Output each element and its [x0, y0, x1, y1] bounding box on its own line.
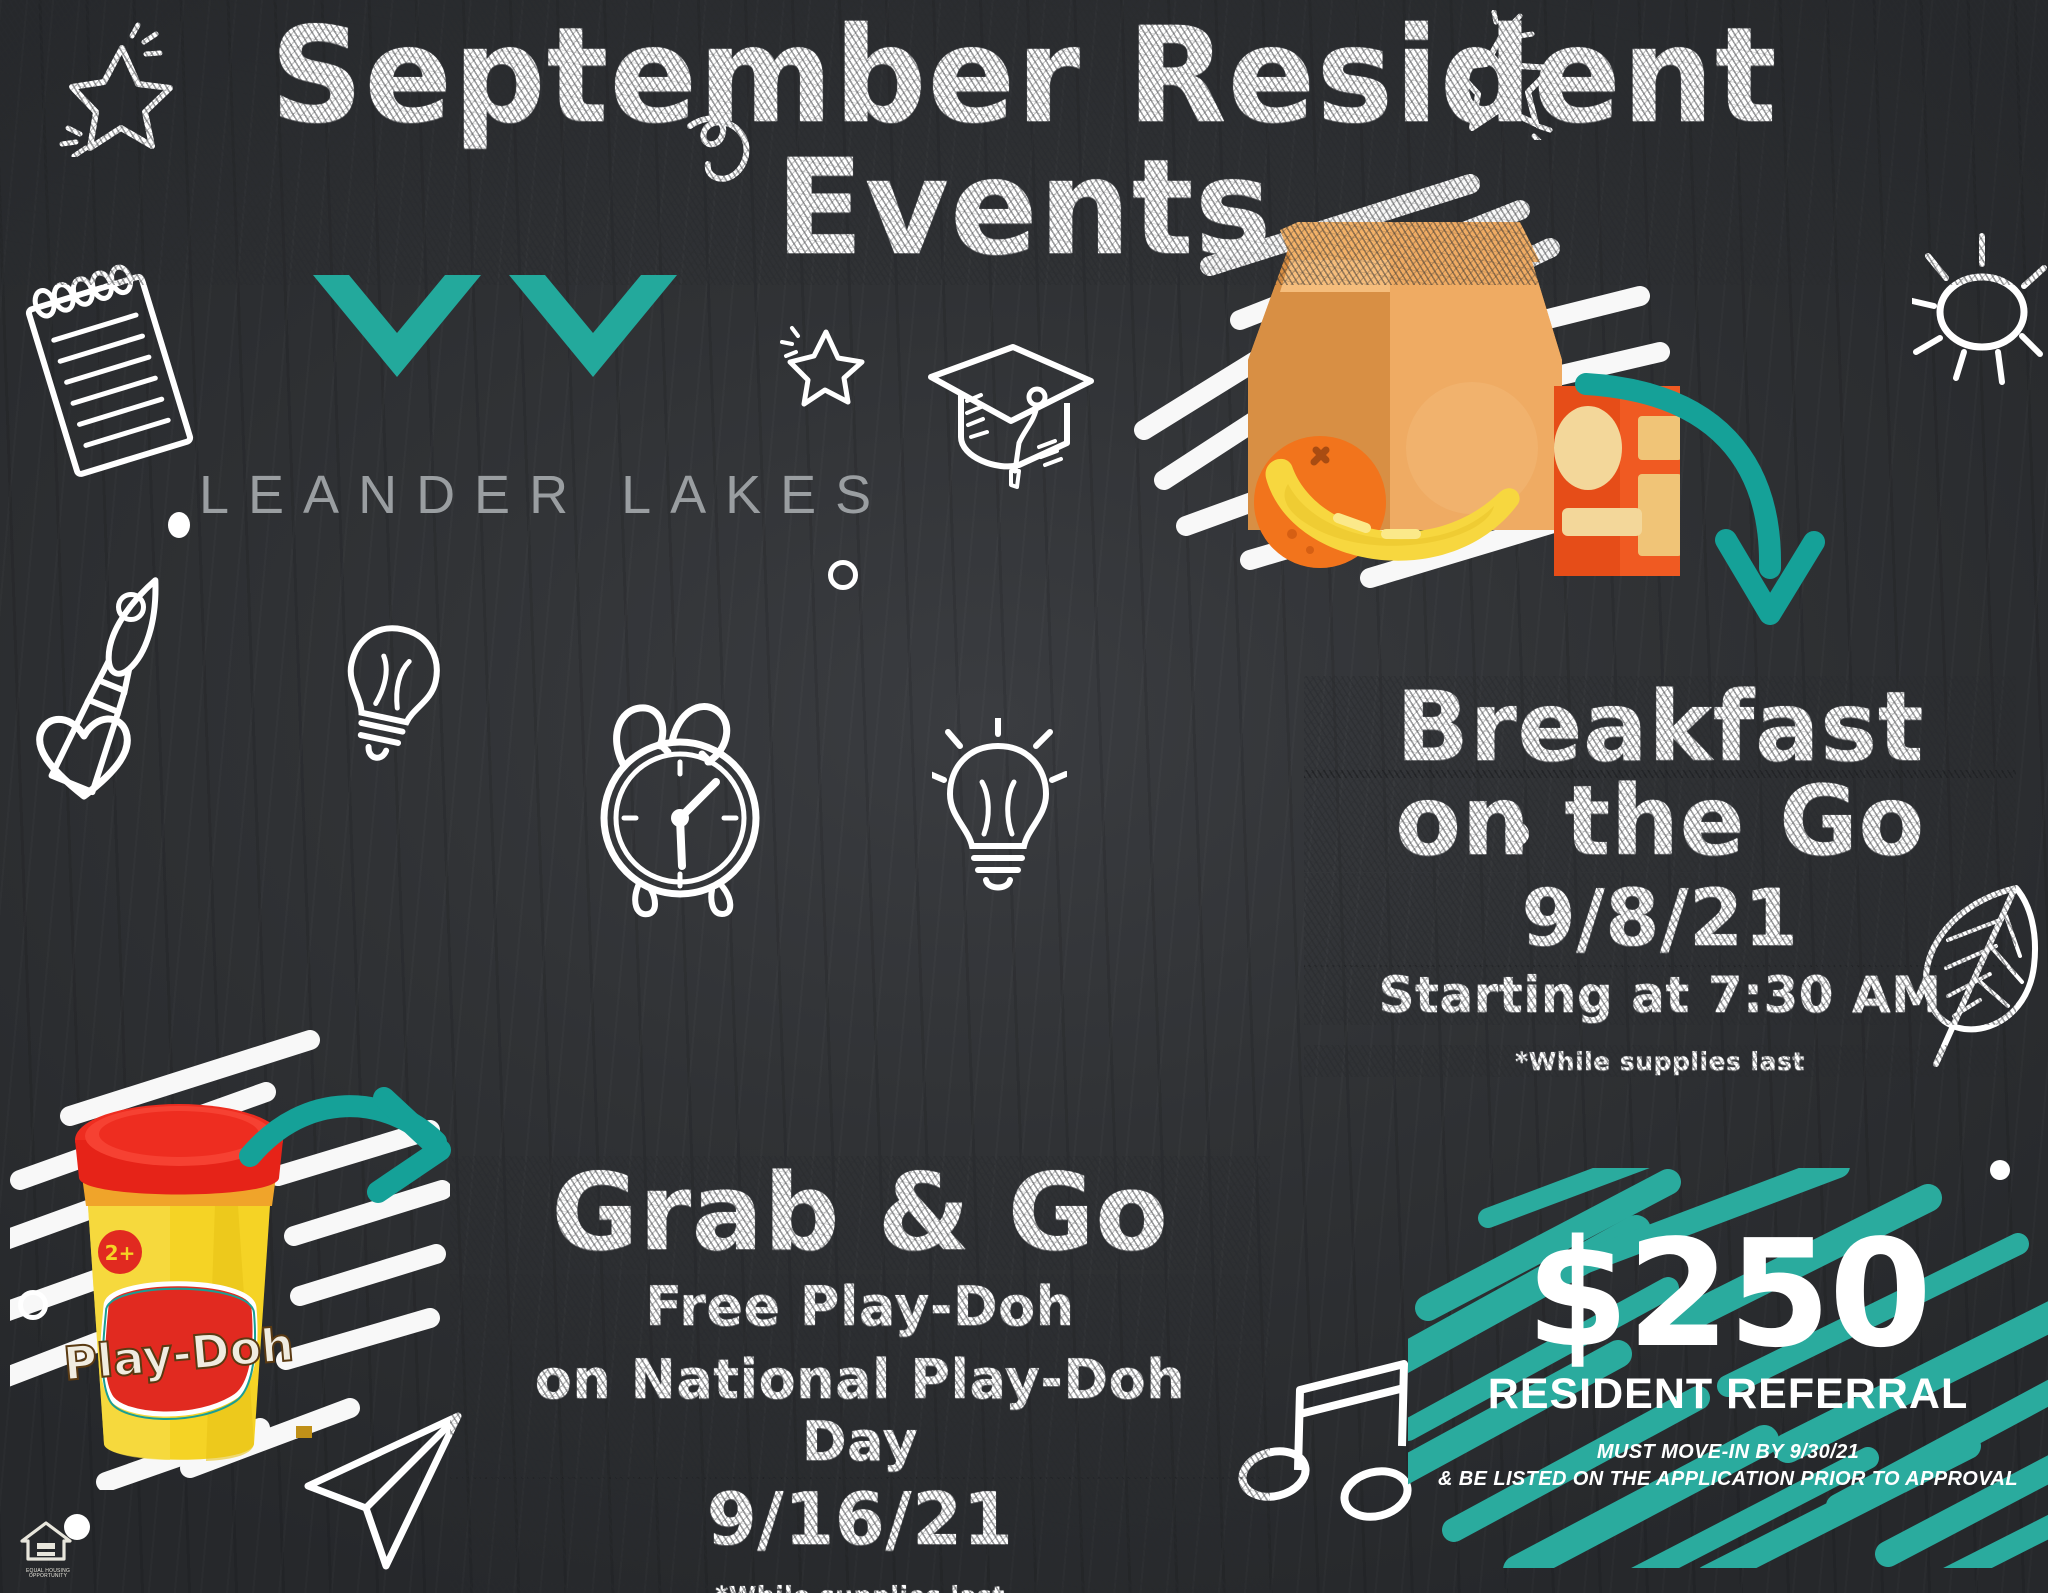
referral-fine-print-line2: & BE LISTED ON THE APPLICATION PRIOR TO … [1408, 1468, 2048, 1491]
dot-icon [828, 560, 858, 590]
lightbulb-icon [932, 718, 1067, 893]
resident-referral-banner: $250 RESIDENT REFERRAL MUST MOVE-IN BY 9… [1408, 1168, 2048, 1568]
event-note: *While supplies last [1330, 1047, 1990, 1076]
dot-icon [116, 592, 146, 622]
alarm-clock-icon [556, 680, 796, 930]
event-note: *While supplies last [480, 1581, 1240, 1593]
page-title-text: September Resident Events [20, 10, 2027, 274]
equal-housing-house-icon [18, 1519, 74, 1563]
referral-fine-print-line1: MUST MOVE-IN BY 9/30/21 [1408, 1441, 2048, 1464]
lightbulb-icon [332, 614, 447, 774]
equal-housing-label: EQUAL HOUSING OPPORTUNITY [18, 1569, 78, 1580]
heart-icon [26, 700, 141, 805]
brand-wordmark: LEANDER LAKES [180, 464, 800, 526]
event-title-line2: on the Go [1330, 774, 1990, 868]
music-note-icon [1236, 1342, 1426, 1522]
event-title: Grab & Go [480, 1160, 1240, 1266]
event-sub-line1: Free Play-Doh [480, 1276, 1240, 1339]
graduation-cap-icon [915, 325, 1100, 500]
event-poster: September Resident Events LEANDER LAKES [0, 0, 2048, 1593]
event-grab-and-go: Grab & Go Free Play-Doh on National Play… [480, 1160, 1240, 1593]
equal-housing-line2: OPPORTUNITY [29, 1573, 67, 1579]
event-title-line1: Breakfast [1330, 680, 1990, 774]
teal-arrow-right-icon [236, 1060, 466, 1250]
double-chevron-mark-icon [305, 265, 685, 395]
event-date: 9/16/21 [480, 1480, 1240, 1559]
brand-logo: LEANDER LAKES [180, 265, 800, 526]
teal-arrow-down-icon [1566, 366, 1826, 666]
event-sub-line2: on National Play-Doh Day [480, 1349, 1240, 1474]
page-title: September Resident Events [0, 10, 2048, 274]
spiral-notepad-icon [24, 258, 204, 488]
event-breakfast-on-the-go: Breakfast on the Go 9/8/21 Starting at 7… [1330, 680, 1990, 1076]
event-date: 9/8/21 [1330, 876, 1990, 963]
age-badge-label: 2+ [105, 1241, 136, 1265]
referral-label: RESIDENT REFERRAL [1408, 1370, 2048, 1419]
equal-housing-opportunity-logo: EQUAL HOUSING OPPORTUNITY [18, 1519, 78, 1580]
referral-amount: $250 [1408, 1226, 2048, 1362]
event-time: Starting at 7:30 AM [1330, 968, 1990, 1023]
